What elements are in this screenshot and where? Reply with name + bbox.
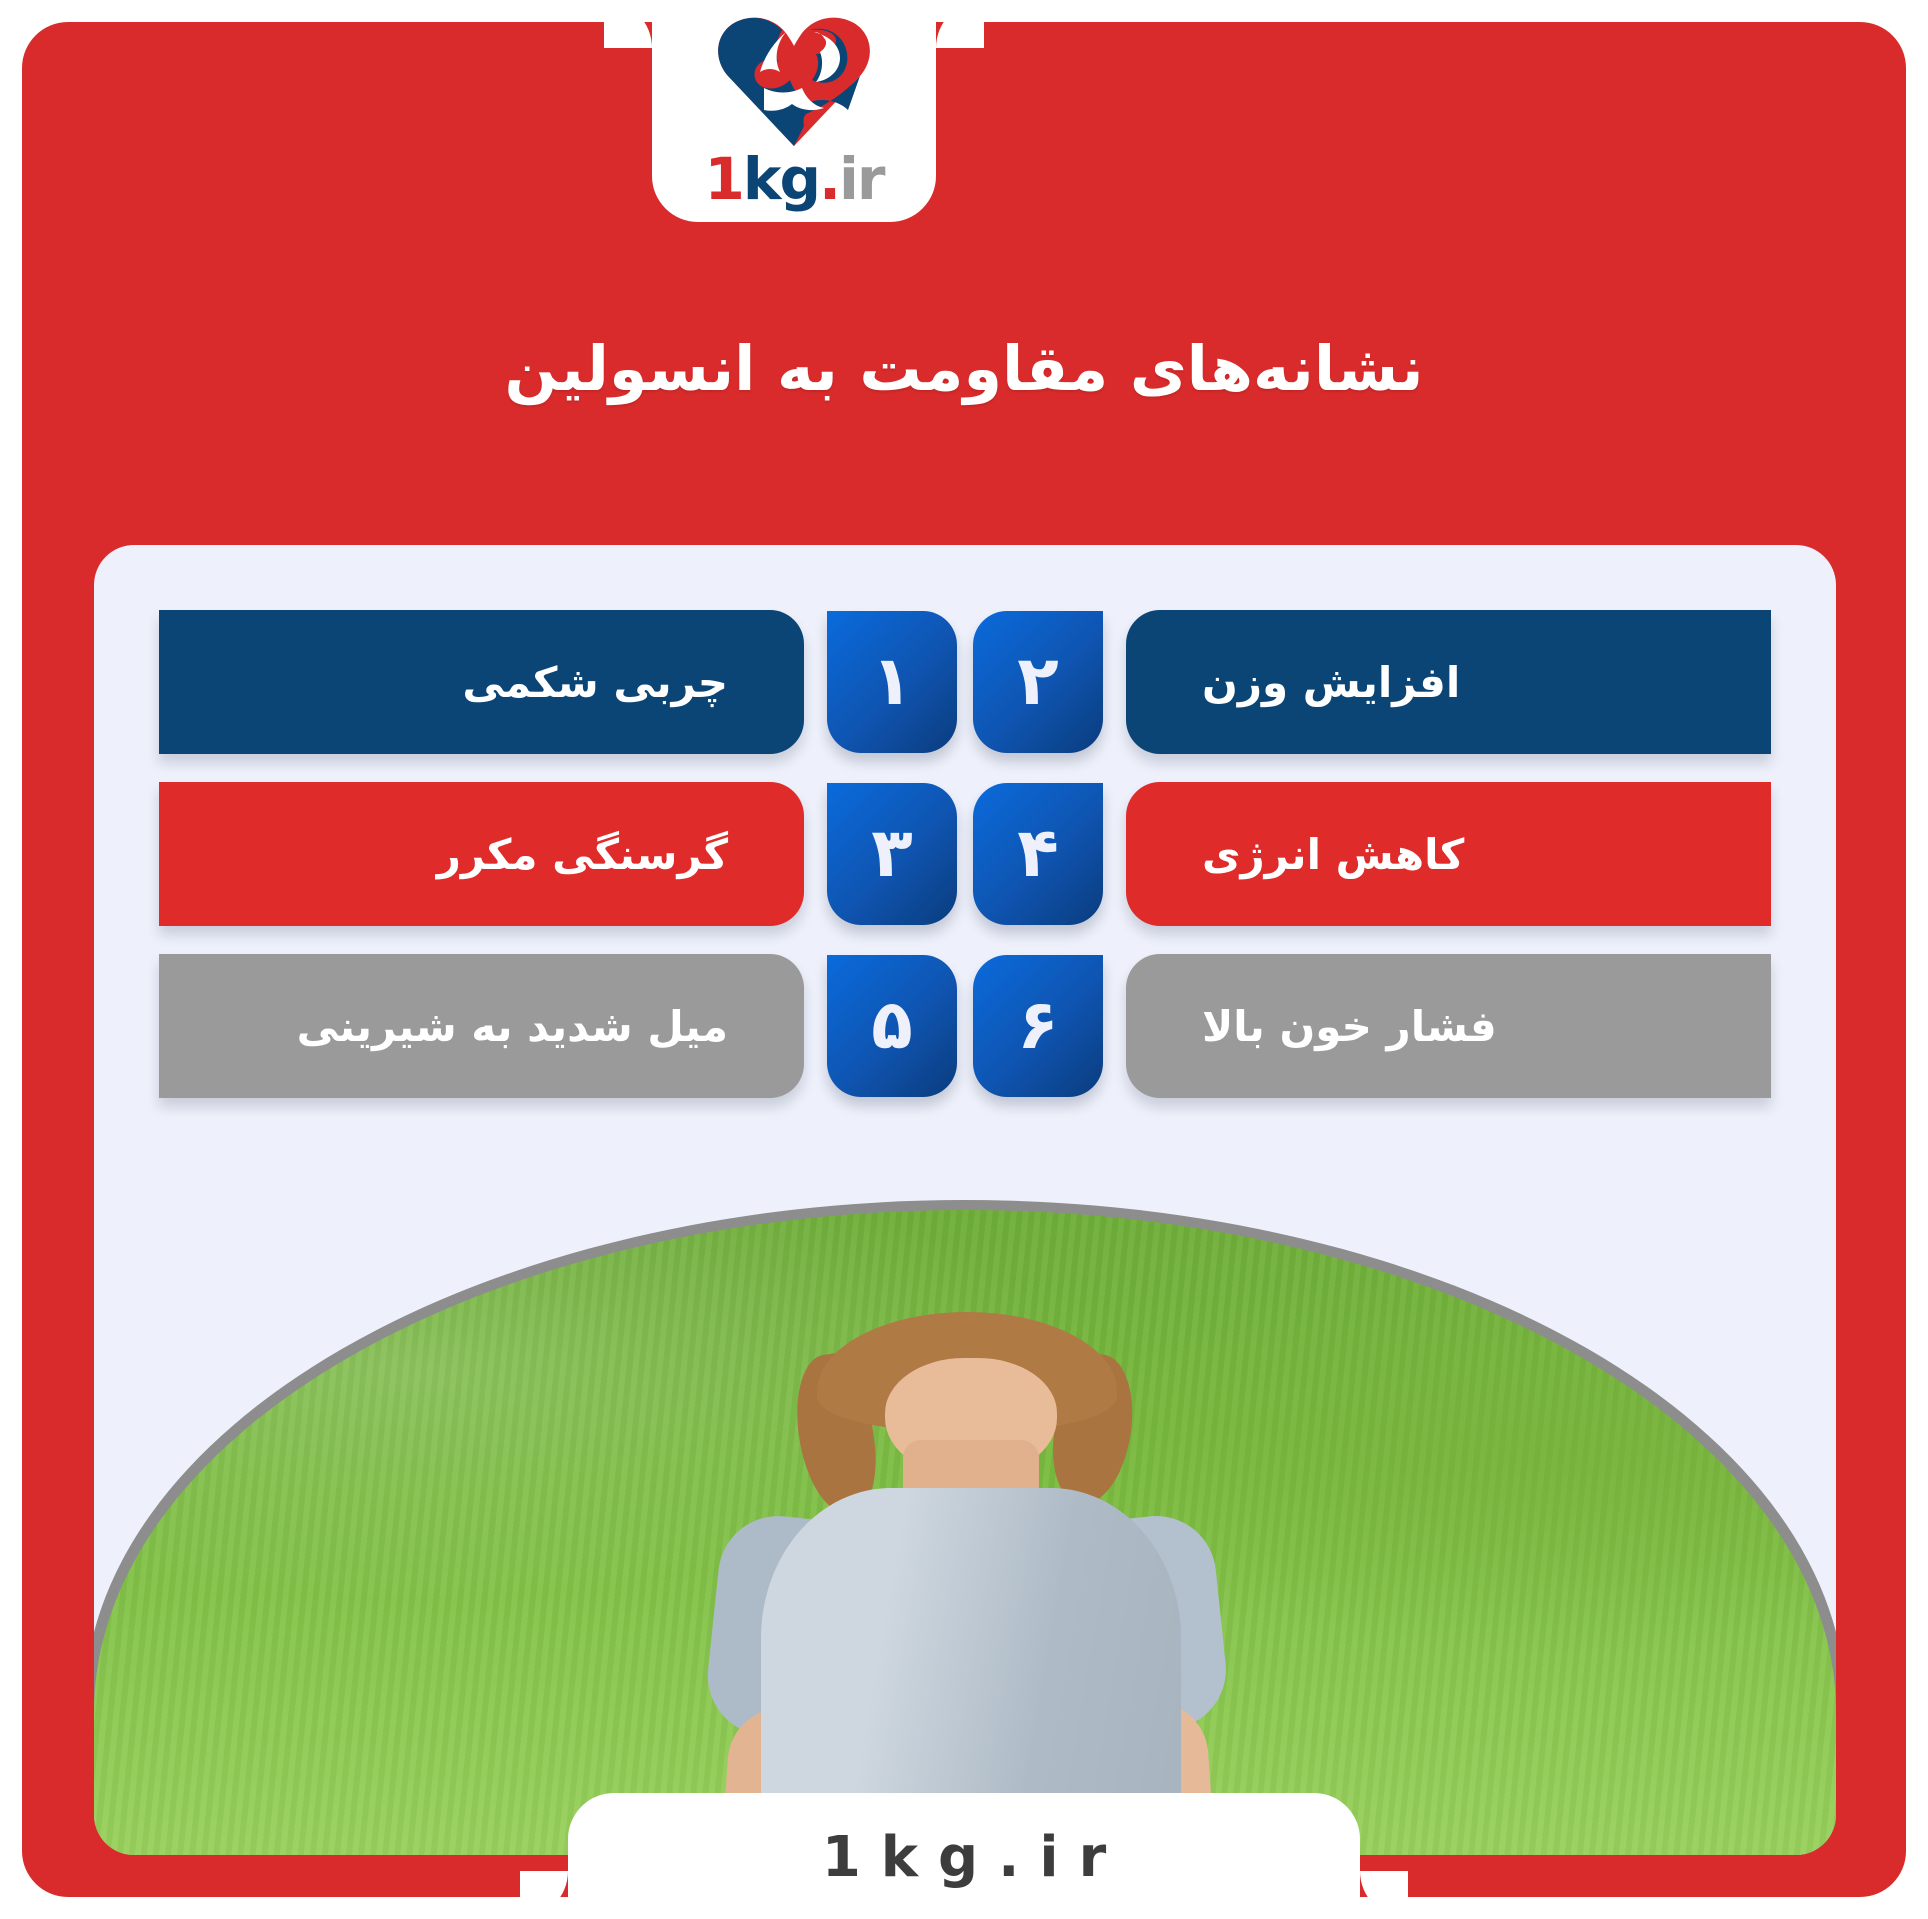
signs-row: فشار خون بالا ۶ ۵ میل شدید به شیرینی bbox=[94, 954, 1836, 1098]
wordmark-ir: ir bbox=[839, 145, 883, 213]
sign-badge-2[interactable]: ۲ bbox=[973, 611, 1103, 753]
sign-badge-1[interactable]: ۱ bbox=[827, 611, 957, 753]
sign-bar-3[interactable]: گرسنگی مکرر bbox=[159, 782, 804, 926]
signs-row: افزایش وزن ۲ ۱ چربی شکمی bbox=[94, 610, 1836, 754]
footer-website[interactable]: 1kg.ir bbox=[802, 1825, 1126, 1890]
sign-badge-5[interactable]: ۵ bbox=[827, 955, 957, 1097]
sign-label-4: کاهش انرژی bbox=[1202, 830, 1464, 879]
sign-bar-4[interactable]: کاهش انرژی bbox=[1126, 782, 1771, 926]
footer-notch-fill-left bbox=[520, 1871, 568, 1919]
badge-pair: ۶ ۵ bbox=[804, 954, 1126, 1098]
sign-bar-6[interactable]: فشار خون بالا bbox=[1126, 954, 1771, 1098]
person-photo bbox=[585, 1320, 1345, 1855]
sign-label-1: چربی شکمی bbox=[462, 658, 728, 707]
sign-label-5: میل شدید به شیرینی bbox=[297, 1002, 728, 1051]
sign-label-2: افزایش وزن bbox=[1202, 658, 1460, 707]
footer-notch-fill-right bbox=[1360, 1871, 1408, 1919]
infographic-poster: 1kg.ir نشانه‌های مقاومت به انسولین افزای… bbox=[0, 0, 1928, 1919]
sign-label-6: فشار خون بالا bbox=[1202, 1002, 1497, 1051]
badge-pair: ۲ ۱ bbox=[804, 610, 1126, 754]
page-title: نشانه‌های مقاومت به انسولین bbox=[0, 330, 1928, 408]
photo-section bbox=[94, 1200, 1836, 1855]
badge-pair: ۴ ۳ bbox=[804, 782, 1126, 926]
footer-notch: 1kg.ir bbox=[568, 1793, 1360, 1919]
sign-badge-4[interactable]: ۴ bbox=[973, 783, 1103, 925]
wordmark-kg: kg bbox=[743, 145, 819, 213]
sign-bar-1[interactable]: چربی شکمی bbox=[159, 610, 804, 754]
sign-label-3: گرسنگی مکرر bbox=[437, 830, 728, 879]
heart-bicep-logo-icon bbox=[714, 14, 874, 148]
sign-badge-6[interactable]: ۶ bbox=[973, 955, 1103, 1097]
signs-row: کاهش انرژی ۴ ۳ گرسنگی مکرر bbox=[94, 782, 1836, 926]
wordmark-dot: . bbox=[819, 145, 839, 213]
logo-notch-fill-right bbox=[936, 0, 984, 48]
logo-notch-fill-left bbox=[604, 0, 652, 48]
brand-wordmark: 1kg.ir bbox=[705, 150, 884, 208]
brand-logo[interactable]: 1kg.ir bbox=[652, 2, 936, 224]
sign-bar-5[interactable]: میل شدید به شیرینی bbox=[159, 954, 804, 1098]
wordmark-one: 1 bbox=[705, 145, 743, 213]
photo-arch bbox=[94, 1210, 1836, 1855]
signs-list: افزایش وزن ۲ ۱ چربی شکمی کاهش انرژی ۴ ۳ … bbox=[94, 610, 1836, 1140]
sign-badge-3[interactable]: ۳ bbox=[827, 783, 957, 925]
sign-bar-2[interactable]: افزایش وزن bbox=[1126, 610, 1771, 754]
